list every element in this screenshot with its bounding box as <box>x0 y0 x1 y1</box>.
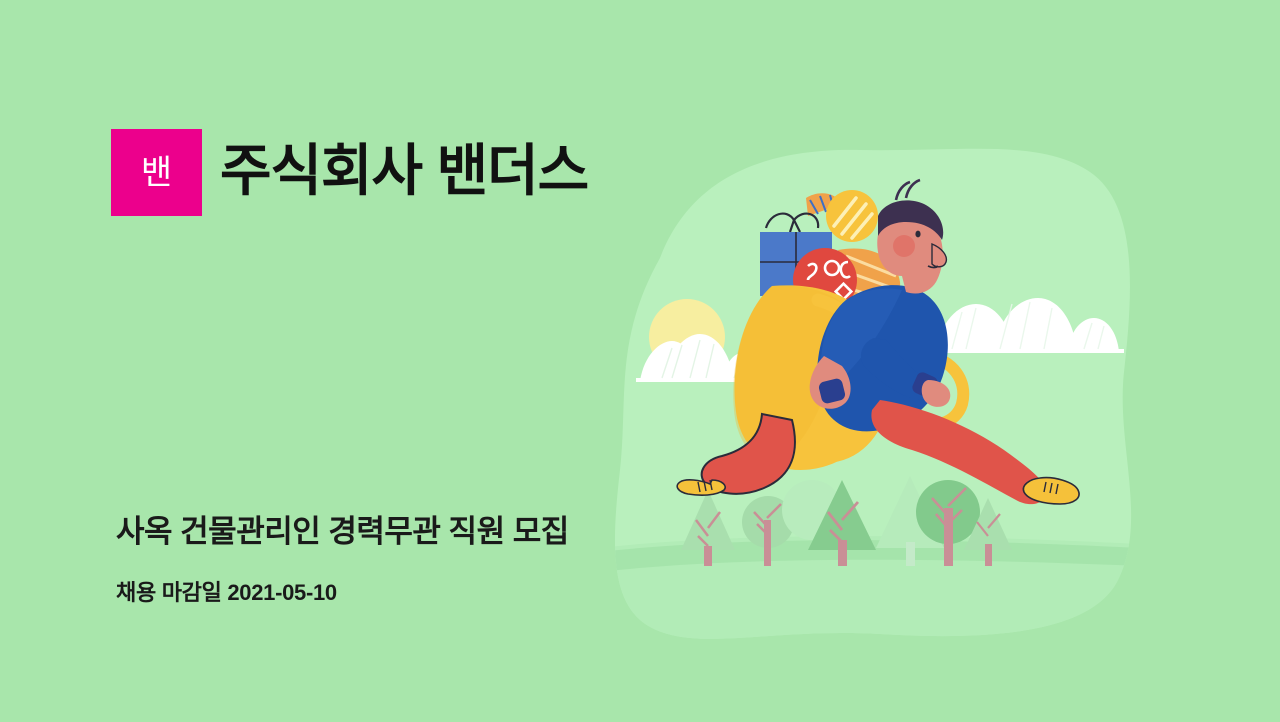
company-logo: 밴 <box>111 129 202 216</box>
background-blob <box>0 0 1280 722</box>
company-name: 주식회사 밴더스 <box>220 143 588 199</box>
job-title: 사옥 건물관리인 경력무관 직원 모집 <box>116 506 569 551</box>
recruitment-banner: 밴 주식회사 밴더스 사옥 건물관리인 경력무관 직원 모집 채용 마감일 20… <box>0 0 1280 722</box>
company-logo-mark: 밴 <box>141 156 172 190</box>
company-header: 밴 주식회사 밴더스 <box>111 129 588 216</box>
application-deadline: 채용 마감일 2021-05-10 <box>116 575 337 607</box>
